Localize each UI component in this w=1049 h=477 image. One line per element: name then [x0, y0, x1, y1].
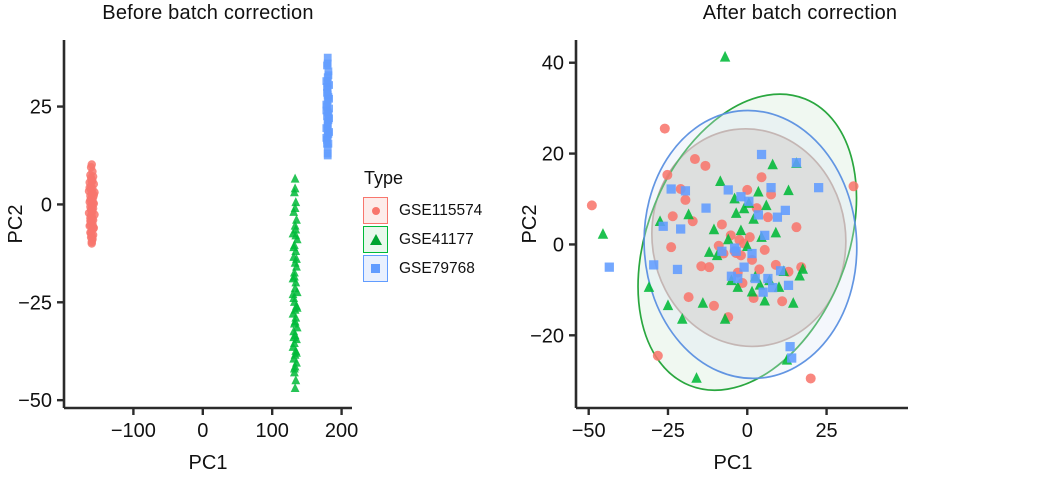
legend-label-gse115574: GSE115574: [399, 202, 482, 220]
panel-before-batch-correction: Before batch correction −1000100200250−2…: [0, 0, 520, 477]
legend-label-gse79768: GSE79768: [399, 260, 475, 278]
y-tick-label: 20: [542, 144, 564, 166]
legend-title-before: Type: [363, 168, 482, 189]
legend-item-gse79768[interactable]: GSE79768: [363, 254, 482, 283]
y-tick-label: 40: [542, 53, 564, 75]
x-tick-label: 0: [197, 420, 208, 442]
x-tick-label: 100: [256, 420, 289, 442]
x-tick-label: −50: [572, 420, 606, 442]
series-GSE79768: [322, 54, 333, 160]
x-axis-title: PC1: [189, 452, 228, 474]
x-tick-label: 25: [815, 420, 837, 442]
x-tick-label: −25: [651, 420, 685, 442]
legend-item-gse115574[interactable]: GSE115574: [363, 196, 482, 225]
y-tick-label: 25: [30, 97, 52, 119]
legend-key-circle-icon: [363, 197, 388, 224]
y-tick-label: −20: [530, 325, 564, 347]
pca-batch-correction-figure: Before batch correction −1000100200250−2…: [0, 0, 1049, 477]
y-axis-title: PC2: [5, 205, 27, 244]
legend-label-gse41177: GSE41177: [399, 231, 474, 249]
x-tick-label: 0: [742, 420, 753, 442]
y-tick-label: 0: [41, 194, 52, 216]
legend-key-square-icon: [363, 255, 388, 282]
y-tick-label: −50: [18, 390, 52, 412]
x-tick-label: 200: [325, 420, 358, 442]
legend-key-triangle-icon: [363, 226, 388, 253]
series-GSE115574: [85, 160, 99, 247]
panel-after-batch-correction: After batch correction −50−2502540200−20…: [520, 0, 1049, 477]
y-tick-label: 0: [553, 234, 564, 256]
series-GSE41177: [289, 174, 302, 392]
y-tick-label: −25: [18, 292, 52, 314]
y-axis-title: PC2: [520, 205, 541, 244]
legend-before: Type GSE115574 GSE41177 GSE79768: [363, 168, 482, 283]
x-tick-label: −100: [111, 420, 156, 442]
legend-item-gse41177[interactable]: GSE41177: [363, 225, 482, 254]
scatter-plot-after: −50−2502540200−20PC1PC2: [520, 0, 1049, 477]
x-axis-title: PC1: [714, 452, 753, 474]
